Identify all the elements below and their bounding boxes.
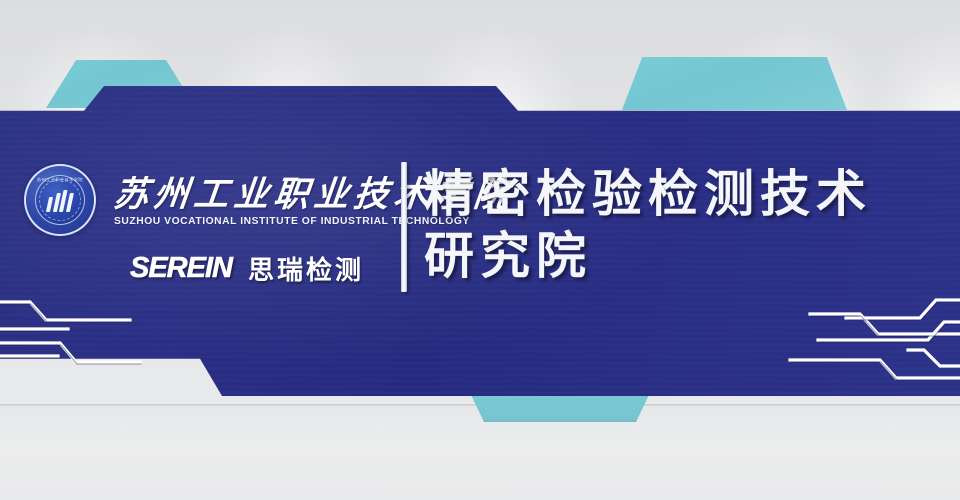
emblem-monogram-icon — [46, 190, 74, 212]
partner-brand-cn: 思瑞检测 — [248, 250, 364, 287]
institute-title: 精密检验检测技术 研究院 — [424, 163, 954, 287]
signage-scene: 苏州工业职业技术学院 苏州工业职业技术学院 SUZHOU VOCATIONAL … — [0, 0, 960, 500]
institute-title-line-1: 精密检验检测技术 — [424, 163, 954, 225]
university-name-en: SUZHOU VOCATIONAL INSTITUTE OF INDUSTRIA… — [114, 216, 470, 227]
university-logo-block: 苏州工业职业技术学院 苏州工业职业技术学院 SUZHOU VOCATIONAL … — [18, 158, 398, 293]
title-divider-bar — [401, 162, 407, 292]
institute-title-line-2: 研究院 — [424, 225, 954, 287]
floor-surface — [0, 406, 960, 500]
university-emblem-icon: 苏州工业职业技术学院 — [24, 164, 96, 236]
emblem-ring-label: 苏州工业职业技术学院 — [37, 177, 83, 183]
partner-brand-row: SEREIN 思瑞检测 — [130, 250, 364, 287]
teal-trapezoid-top-right — [622, 57, 847, 110]
partner-brand-en: SEREIN — [130, 252, 232, 285]
